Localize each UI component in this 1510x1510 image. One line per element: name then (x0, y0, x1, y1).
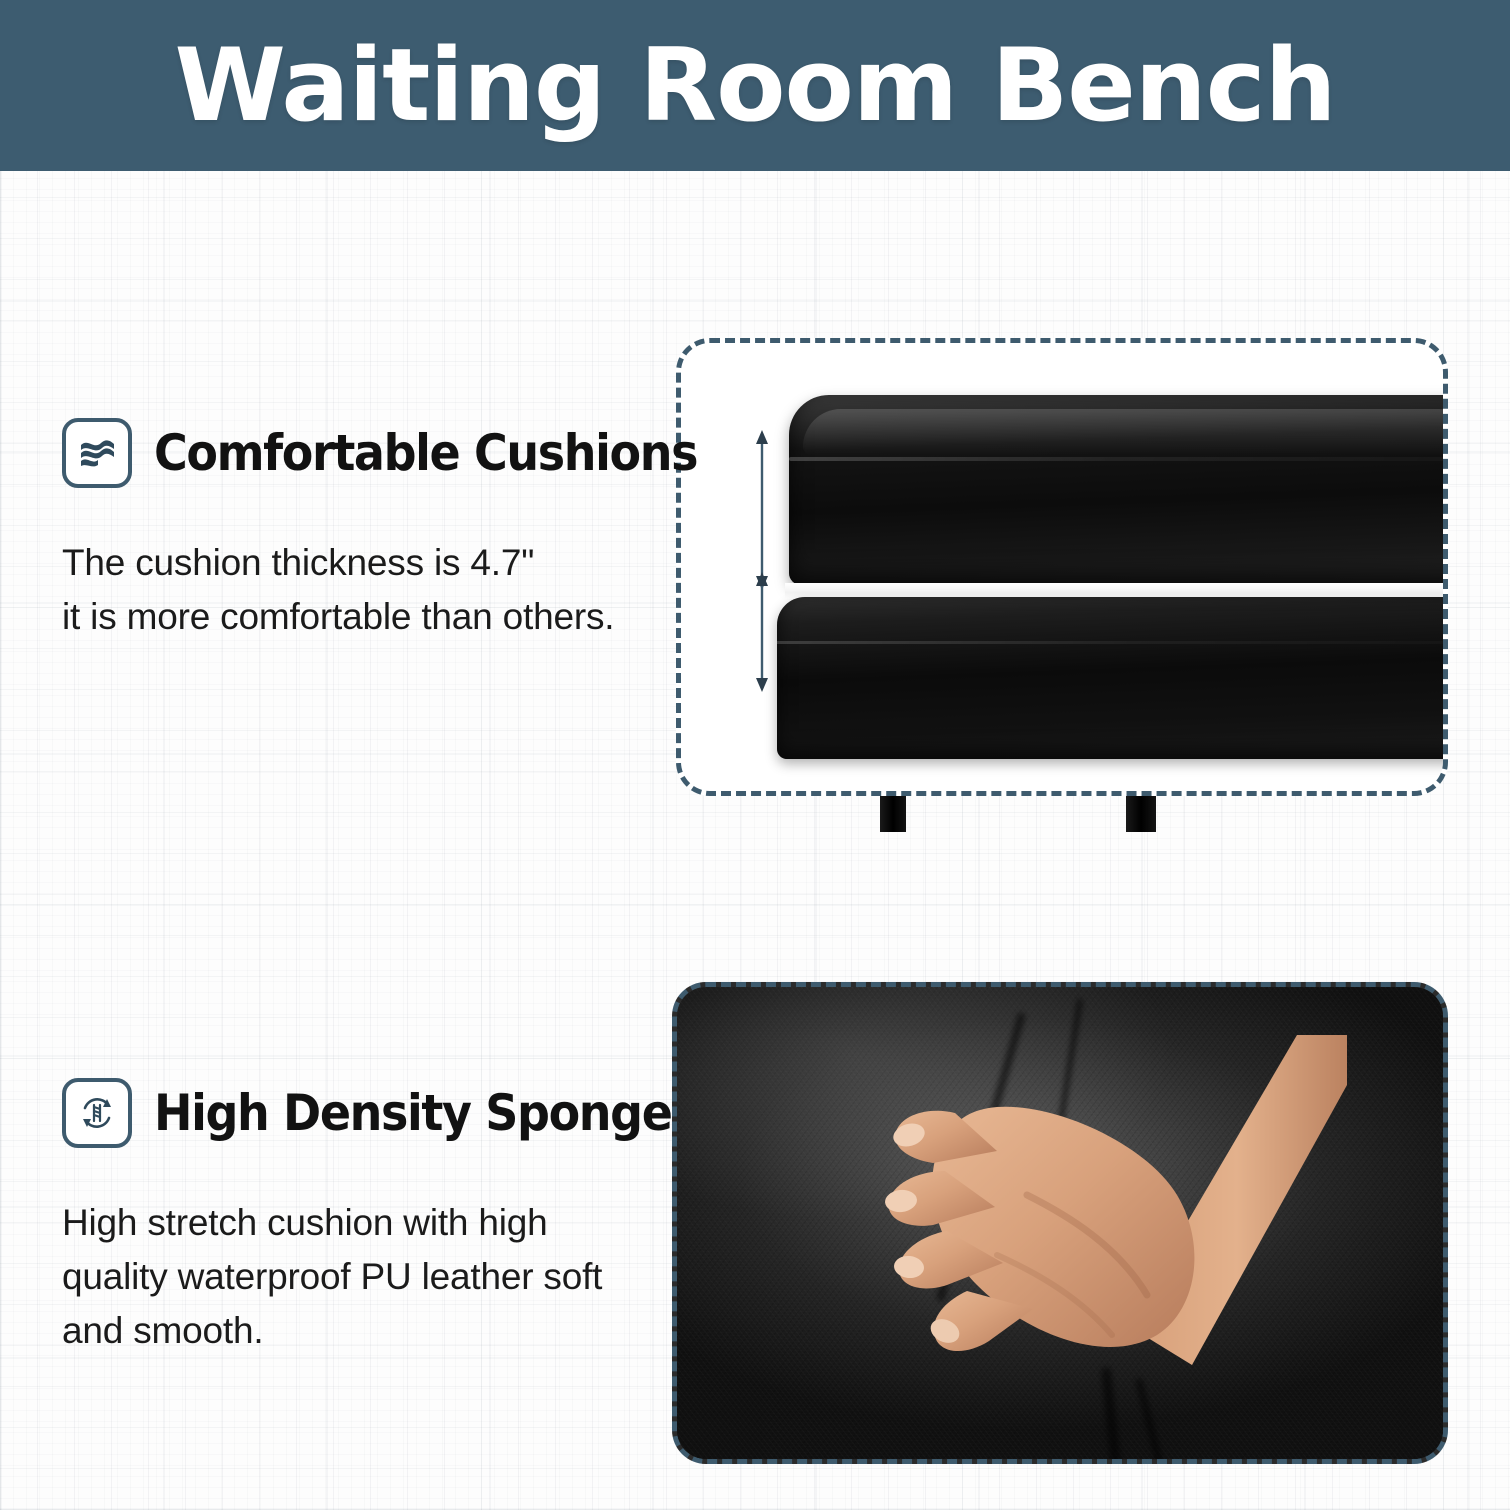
page-header: Waiting Room Bench (0, 0, 1510, 171)
bench-illustration (681, 343, 1443, 791)
feature-block-comfortable-cushions: Comfortable Cushions The cushion thickne… (62, 418, 662, 644)
feature-description-line: quality waterproof PU leather soft (62, 1250, 662, 1304)
feature-description: High stretch cushion with high quality w… (62, 1196, 662, 1358)
feature-description-line: The cushion thickness is 4.7" (62, 536, 662, 590)
bench-base (777, 597, 1448, 759)
dimension-arrow-base (752, 572, 772, 697)
feature-heading-row: Comfortable Cushions (62, 418, 662, 488)
hand-illustration (827, 995, 1347, 1464)
feature-description: The cushion thickness is 4.7" it is more… (62, 536, 662, 644)
bench-side-profile-photo (676, 338, 1448, 796)
feature-block-high-density-sponge: High Density Sponge High stretch cushion… (62, 1078, 662, 1358)
bench-cushion (789, 395, 1448, 585)
hand-pressing-cushion-photo (672, 982, 1448, 1464)
feature-heading-row: High Density Sponge (62, 1078, 662, 1148)
feature-description-line: it is more comfortable than others. (62, 590, 662, 644)
feature-title: High Density Sponge (154, 1088, 672, 1138)
dimension-arrow-cushion (752, 430, 772, 595)
page-title: Waiting Room Bench (175, 35, 1336, 136)
rebound-sponge-icon (62, 1078, 132, 1148)
feature-description-line: High stretch cushion with high (62, 1196, 662, 1250)
cushion-layers-icon (62, 418, 132, 488)
feature-title: Comfortable Cushions (154, 428, 697, 478)
feature-description-line: and smooth. (62, 1304, 662, 1358)
